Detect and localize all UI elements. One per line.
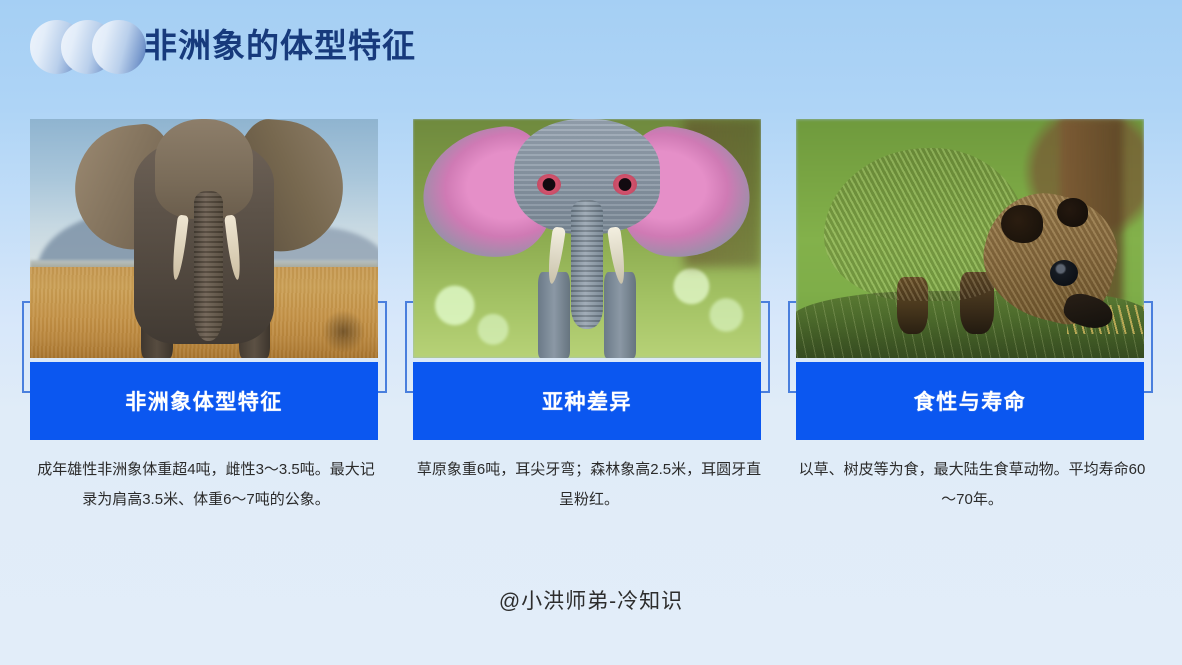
card-label-2: 亚种差异 — [542, 386, 632, 416]
card-label-box-3[interactable]: 食性与寿命 — [796, 362, 1144, 440]
card-label-1: 非洲象体型特征 — [125, 386, 283, 416]
three-overlapping-circles-icon — [30, 20, 150, 74]
info-card-2[interactable]: 亚种差异 — [404, 119, 774, 444]
page-title: 非洲象的体型特征 — [144, 21, 416, 71]
slide-header: 非洲象的体型特征 — [0, 0, 1182, 92]
card-label-3: 食性与寿命 — [914, 386, 1027, 416]
info-card-3[interactable]: 食性与寿命 — [787, 119, 1157, 444]
circle-decor-3 — [92, 20, 146, 74]
card-label-box-2[interactable]: 亚种差异 — [413, 362, 761, 440]
card-caption-2: 草原象重6吨，耳尖牙弯；森林象高2.5米，耳圆牙直呈粉红。 — [413, 455, 765, 515]
info-card-1[interactable]: 非洲象体型特征 — [21, 119, 391, 444]
card-image-1 — [30, 119, 378, 358]
card-image-2 — [413, 119, 761, 358]
footer-credit: @小洪师弟-冷知识 — [0, 585, 1182, 615]
card-label-box-1[interactable]: 非洲象体型特征 — [30, 362, 378, 440]
card-caption-3: 以草、树皮等为食，最大陆生食草动物。平均寿命60～70年。 — [796, 455, 1148, 515]
card-caption-1: 成年雄性非洲象体重超4吨，雌性3～3.5吨。最大记录为肩高3.5米、体重6～7吨… — [30, 455, 382, 515]
card-image-3 — [796, 119, 1144, 358]
